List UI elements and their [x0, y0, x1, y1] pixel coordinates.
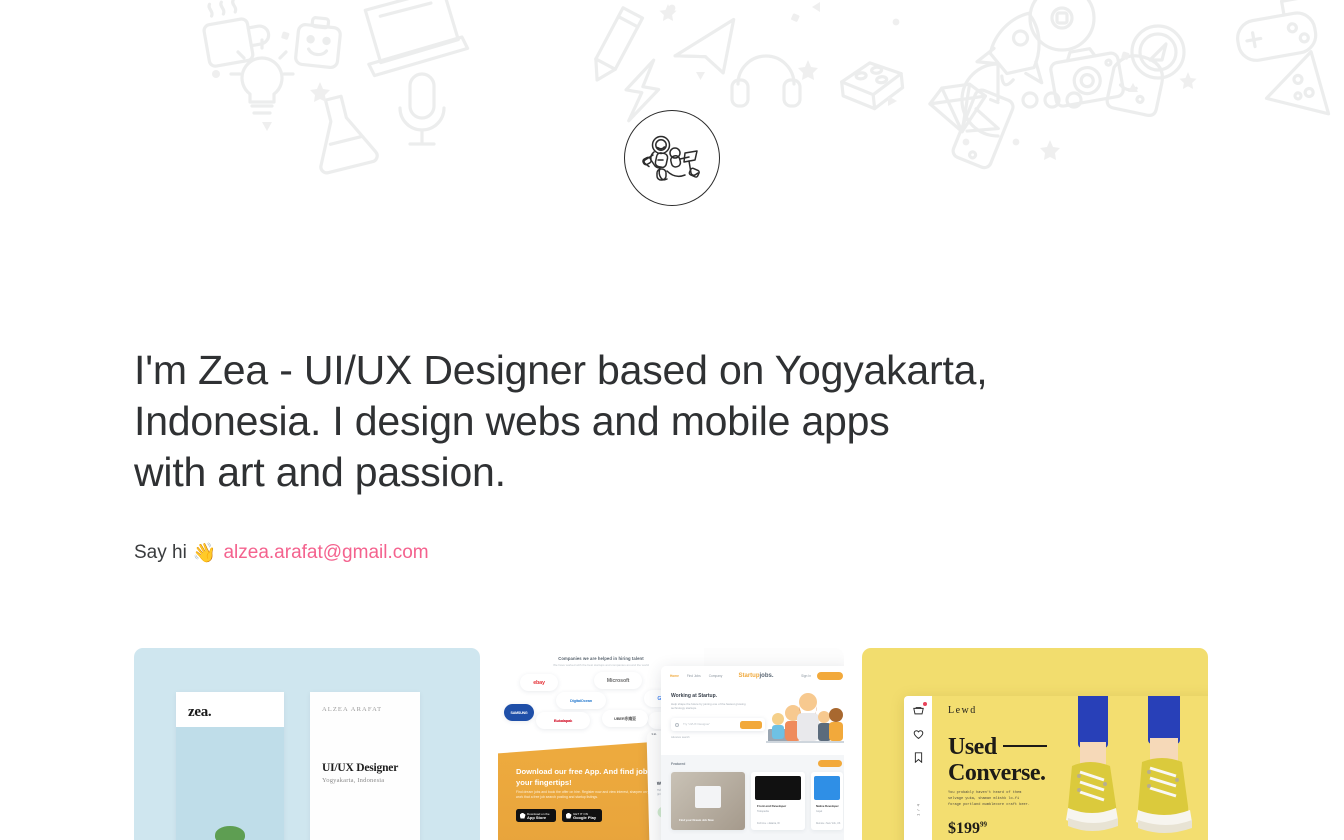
compass-icon — [1132, 26, 1184, 78]
search-button[interactable] — [740, 721, 762, 729]
company-logo-ebay: ebay — [520, 674, 558, 691]
card-role: UI/UX Designer — [322, 762, 398, 774]
portfolio-page: I'm Zea - UI/UX Designer based on Yogyak… — [0, 0, 1344, 840]
shop-mockup: 1 / 4 Lewd Used Converse. You probably h… — [904, 696, 1208, 840]
hero-heading: Working at Startup. — [671, 693, 717, 699]
shop-pager: 1 / 4 — [916, 803, 921, 816]
shop-sidebar: 1 / 4 — [904, 696, 932, 840]
rocket-icon — [973, 3, 1061, 95]
company-logo-digitalocean: DigitalOcean — [556, 692, 606, 709]
laptop-icon — [360, 0, 470, 76]
nav-signin[interactable]: Sign In — [801, 674, 811, 678]
paper-plane-icon — [672, 20, 739, 78]
shop-description: You probably haven't heard of them selva… — [948, 790, 1034, 808]
google-play-badge[interactable]: GET IT ON Google Play — [562, 809, 602, 822]
lightbulb-icon — [231, 40, 293, 113]
shop-title: Used Converse. — [948, 734, 1047, 786]
companies-subcaption: We have worked with the best startups an… — [528, 663, 674, 667]
plant-icon — [207, 825, 253, 840]
logo[interactable] — [0, 110, 1344, 206]
brand-photo — [176, 727, 284, 840]
pizza-icon — [1266, 44, 1342, 114]
search-placeholder: Try 'UI/UX Designer' — [683, 722, 710, 726]
shop-brand: Lewd — [948, 705, 977, 716]
company-logo-samsung: SAMSUNG — [504, 704, 534, 721]
jobs-website-mockup: Home Find Jobs Company Startupjobs. Sign… — [661, 666, 844, 840]
nav-home[interactable]: Home — [670, 674, 679, 678]
brand-mockup: zea. — [176, 692, 284, 840]
featured-card-1[interactable]: Find your Dream Job Now — [671, 772, 745, 830]
company-logo-microsoft: Microsoft — [594, 672, 642, 689]
mug-icon — [200, 0, 273, 67]
card-name: ALZEA ARAFAT — [322, 706, 382, 713]
nav-company[interactable]: Company — [709, 674, 723, 678]
page-title: I'm Zea - UI/UX Designer based on Yogyak… — [134, 345, 1134, 498]
project-card-startupjobs[interactable]: Companies we are helped in hiring talent… — [498, 648, 844, 840]
hero-search-field[interactable]: Try 'UI/UX Designer' — [671, 718, 765, 731]
waving-hand-icon: 👋 — [193, 544, 217, 563]
cart-badge — [923, 702, 927, 706]
heart-icon[interactable] — [913, 727, 924, 738]
app-headline: Download our free App. And find jobs in … — [516, 766, 666, 788]
logo-circle — [624, 110, 720, 206]
app-body: Find dream jobs and book the offer on hi… — [516, 790, 661, 800]
project-card-converse[interactable]: 1 / 4 Lewd Used Converse. You probably h… — [862, 648, 1208, 840]
lego-head-icon — [295, 16, 342, 68]
cart-icon[interactable] — [913, 704, 924, 715]
app-store-badge[interactable]: Download on the App Store — [516, 809, 556, 822]
bookmark-icon[interactable] — [913, 750, 924, 761]
nav-find-jobs[interactable]: Find Jobs — [687, 674, 701, 678]
gamepad-icon — [1232, 0, 1318, 63]
company-logo-bukalapak: Bukalapak — [536, 712, 590, 729]
search-icon — [675, 723, 679, 727]
company-logo-extra: UBER东南亚 — [602, 710, 648, 727]
converse-photo — [1052, 696, 1208, 840]
project-card-branding[interactable]: zea. ALZEA ARAFAT UI/UX Designer Yogyaka… — [134, 648, 480, 840]
headphones-icon — [732, 56, 800, 106]
ice-cream-icon — [1106, 51, 1167, 116]
featured-card-3[interactable]: Native Developer Gojek Remote • New York… — [811, 772, 843, 830]
site-signup-button[interactable] — [817, 672, 843, 680]
featured-label: Featured — [671, 762, 685, 766]
business-card-mockup: ALZEA ARAFAT UI/UX Designer Yogyakarta, … — [310, 692, 420, 840]
shop-price: $19999 — [948, 820, 987, 838]
cd-icon — [1030, 0, 1094, 50]
site-featured-section: Featured Find your Dream Job Now Front e… — [661, 755, 844, 840]
email-link[interactable]: alzea.arafat@gmail.com — [223, 540, 428, 566]
camera-icon — [1048, 44, 1124, 107]
contact-line: Say hi 👋 alzea.arafat@gmail.com — [134, 540, 1210, 566]
astronaut-icon — [641, 127, 703, 189]
card-location: Yogyakarta, Indonesia — [322, 777, 384, 784]
lego-brick-icon — [840, 60, 904, 112]
pencil-icon — [587, 8, 642, 85]
people-illustration — [766, 693, 844, 745]
site-nav: Home Find Jobs Company Startupjobs. Sign… — [661, 666, 844, 685]
advanced-search-link[interactable]: Advance search — [671, 736, 690, 739]
featured-see-more-button[interactable] — [818, 760, 842, 767]
hero-body: Help shape the future by joining one of … — [671, 702, 751, 711]
brand-mark: zea. — [188, 704, 211, 721]
project-gallery: zea. ALZEA ARAFAT UI/UX Designer Yogyaka… — [134, 648, 1210, 840]
featured-card-2[interactable]: Front end Developer Tokopedia Full time … — [751, 772, 805, 830]
site-hero: Working at Startup. Help shape the futur… — [661, 685, 844, 755]
companies-caption: Companies we are helped in hiring talent — [516, 656, 686, 661]
hero-content: I'm Zea - UI/UX Designer based on Yogyak… — [134, 345, 1210, 566]
contact-prefix: Say hi — [134, 540, 187, 566]
site-brand: Startupjobs. — [738, 673, 773, 679]
